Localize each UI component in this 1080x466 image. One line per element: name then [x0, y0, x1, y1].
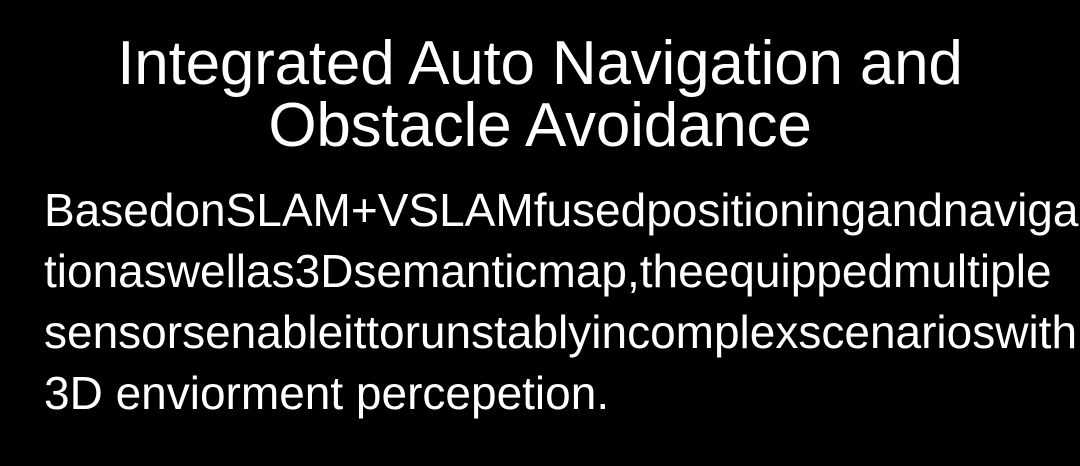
body-word: well	[167, 241, 246, 302]
body-word: multiple	[893, 241, 1052, 302]
body-word: in	[591, 302, 627, 363]
body-word: with	[995, 302, 1077, 363]
body-word: and	[866, 180, 943, 241]
body-word: as	[118, 241, 167, 302]
body-word: semantic	[353, 241, 537, 302]
slide-title: Integrated Auto Navigation and Obstacle …	[0, 33, 1080, 157]
body-word: run	[405, 302, 471, 363]
title-line-1: Integrated Auto Navigation and	[0, 33, 1080, 95]
body-word: Based	[44, 180, 174, 241]
body-word: stably	[471, 302, 591, 363]
body-word: scenarios	[798, 302, 995, 363]
body-word: complex	[627, 302, 798, 363]
body-word: naviga-	[943, 180, 1080, 241]
body-word: as	[246, 241, 295, 302]
body-word: enable	[205, 302, 343, 363]
body-word: 3D	[295, 241, 354, 302]
slide-root: Integrated Auto Navigation and Obstacle …	[0, 0, 1080, 466]
body-word: equipped	[704, 241, 893, 302]
body-word: it	[343, 302, 366, 363]
body-word: fused	[534, 180, 647, 241]
body-word: tion	[44, 241, 118, 302]
body-line-4-text: 3D enviorment percepetion.	[44, 367, 609, 419]
body-word: positioning	[646, 180, 866, 241]
body-word: map,the	[538, 241, 704, 302]
body-line-3: sensors enable it to run stably in compl…	[44, 302, 1036, 363]
title-line-2: Obstacle Avoidance	[0, 95, 1080, 157]
body-word: on	[174, 180, 225, 241]
body-word: sensors	[44, 302, 205, 363]
slide-body-paragraph: Based on SLAM+VSLAM fused positioning an…	[44, 180, 1036, 424]
body-word: to	[366, 302, 404, 363]
body-line-2: tion as well as 3D semantic map,the equi…	[44, 241, 1036, 302]
body-line-4: 3D enviorment percepetion.	[44, 363, 1036, 424]
body-line-1: Based on SLAM+VSLAM fused positioning an…	[44, 180, 1036, 241]
body-word: SLAM+VSLAM	[226, 180, 534, 241]
